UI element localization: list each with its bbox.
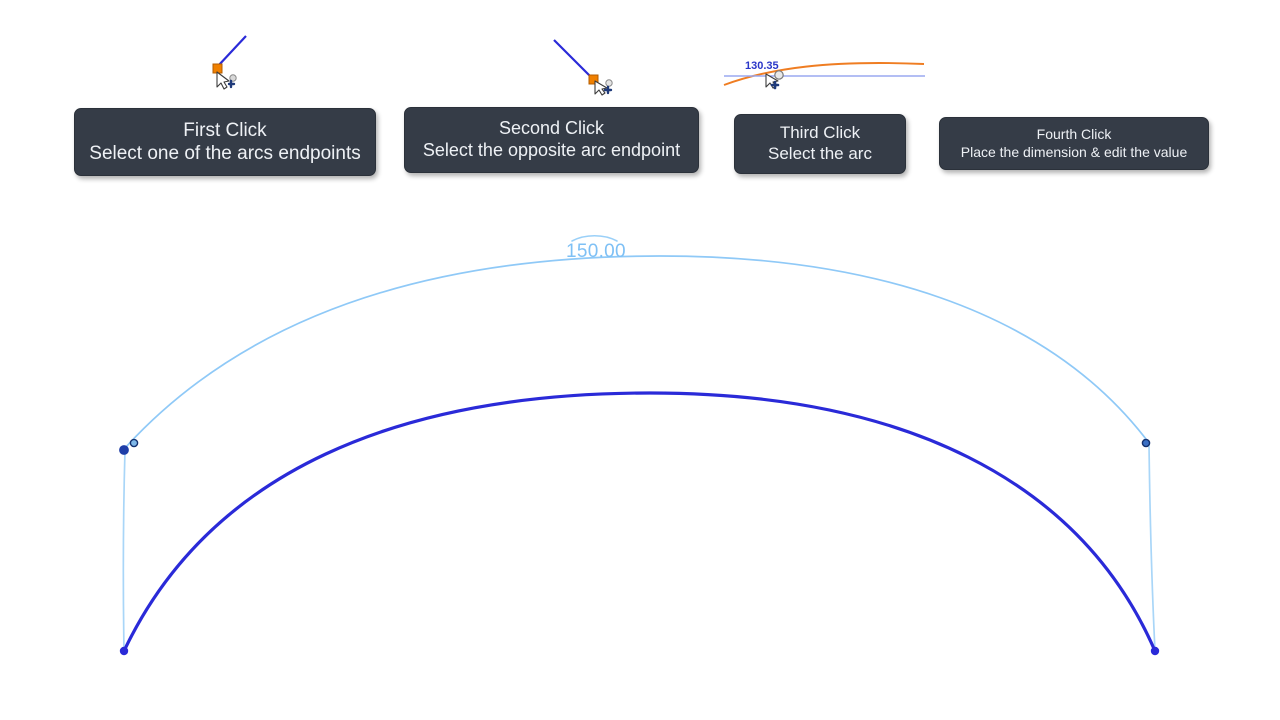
line-endpoint-cursor-thumbnail [198,34,268,96]
endpoint-marker-left-solid[interactable] [120,446,129,455]
mouse-cursor-arrow [595,81,607,95]
step-1-instruction: Select one of the arcs endpoints [89,142,360,165]
step-4-title: Fourth Click [1037,126,1112,143]
orange-endpoint-square[interactable] [213,64,222,73]
sketch-arc [124,393,1155,651]
snap-glyph-icon [229,81,234,87]
point-snap-icon [606,80,612,86]
step-3-dimension-value: 130.35 [745,60,779,72]
mouse-cursor-arrow [217,72,229,89]
arc-endpoint-left[interactable] [120,647,128,655]
step-3-title: Third Click [780,123,860,144]
extension-line-right [1149,445,1155,651]
step-3-callout[interactable]: Third Click Select the arc [734,114,906,174]
step-2-title: Second Click [499,118,604,140]
blue-line [554,40,592,78]
blue-line [218,36,246,66]
step-1-callout[interactable]: First Click Select one of the arcs endpo… [74,108,376,176]
arc-length-dimension-value[interactable]: 150.00 [566,241,626,263]
arc-snap-icon [775,71,783,79]
endpoint-marker-left[interactable] [130,439,137,446]
step-4-instruction: Place the dimension & edit the value [961,144,1187,161]
tutorial-canvas: 150.00 First Click Select one of the arc… [0,0,1280,720]
step-2-callout[interactable]: Second Click Select the opposite arc end… [404,107,699,173]
extension-line-left [123,450,125,651]
step-4-callout[interactable]: Fourth Click Place the dimension & edit … [939,117,1209,170]
arc-select-cursor-thumbnail [720,52,930,98]
arc-endpoint-right[interactable] [1151,647,1159,655]
step-3-instruction: Select the arc [768,144,872,165]
opposite-endpoint-cursor-thumbnail [548,34,618,96]
dimension-arc [125,256,1149,448]
step-1-title: First Click [183,119,266,142]
endpoint-marker-right[interactable] [1142,439,1149,446]
step-2-instruction: Select the opposite arc endpoint [423,140,680,162]
